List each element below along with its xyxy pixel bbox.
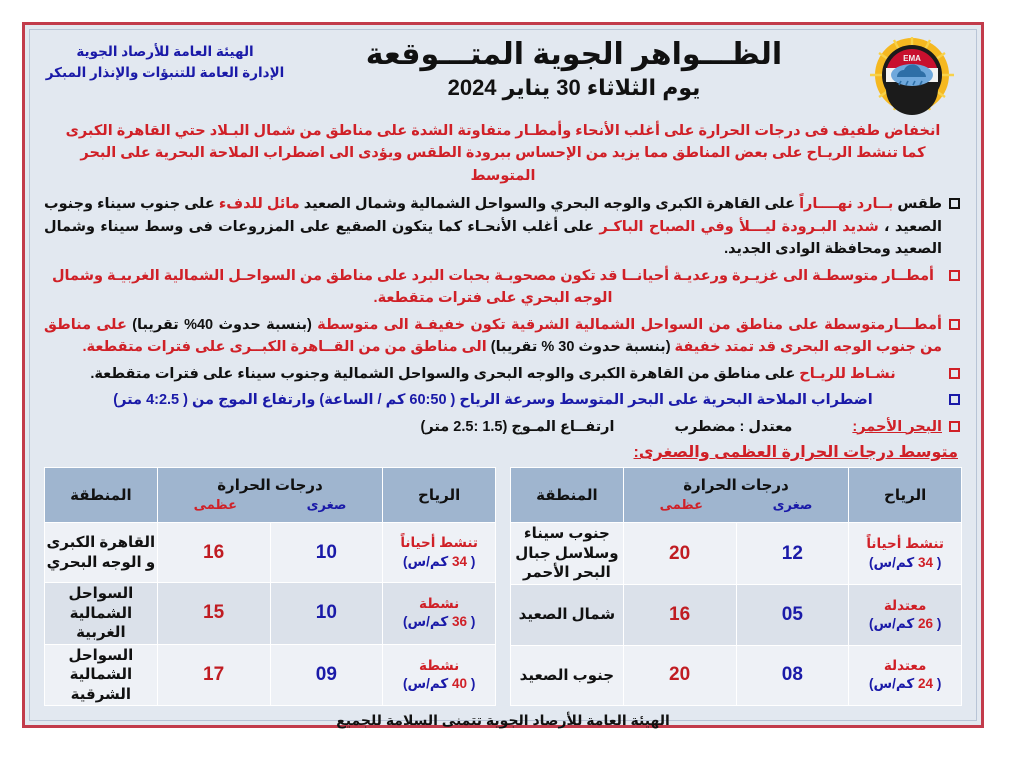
col-header-temp-max: عظمى bbox=[194, 497, 237, 513]
cell-temp-max: 16 bbox=[157, 523, 270, 583]
forecast-poster: الهيئة العامة للأرصاد الجوية الإدارة الع… bbox=[22, 22, 984, 728]
bullet-list: طقس بــارد نهــــاراً على القاهرة الكبرى… bbox=[44, 193, 962, 438]
temperature-table-right: الرياح درجات الحرارة صغرى عظمى المنطقة ت… bbox=[44, 467, 496, 706]
table-row: معتدلة ( 24 كم/س) 08 20 جنوب الصعيد bbox=[511, 645, 962, 706]
cell-temp-min: 10 bbox=[270, 523, 383, 583]
bullet-item-rain-northeast: أمطـــارمتوسطة على مناطق من السواحل الشم… bbox=[44, 314, 962, 359]
cell-region: جنوب الصعيد bbox=[511, 645, 624, 706]
col-header-temp-min: صغرى bbox=[773, 497, 813, 513]
bullet-item-red-sea: البحر الأحمر: معتدل : مضطرب ارتفــاع الم… bbox=[44, 416, 962, 438]
cell-temp-max: 20 bbox=[623, 523, 736, 585]
ema-sun-cloud-logo-icon: EMA bbox=[864, 35, 960, 115]
col-header-temperature: درجات الحرارة صغرى عظمى bbox=[157, 468, 383, 523]
bullet-text-marine-mediterranean: اضطراب الملاحة البحرية على البحر المتوسط… bbox=[44, 389, 942, 411]
col-header-temp-min: صغرى bbox=[307, 497, 347, 513]
col-header-wind: الرياح bbox=[383, 468, 496, 523]
org-authority-name: الهيئة العامة للأرصاد الجوية bbox=[40, 42, 290, 63]
cell-temp-min: 12 bbox=[736, 523, 849, 585]
bullet-item-wind: نشـاط للريـاح على مناطق من القاهرة الكبر… bbox=[44, 363, 962, 385]
bullet-square-icon bbox=[949, 198, 960, 209]
bullet-square-icon bbox=[949, 394, 960, 405]
wind-state: نشطة bbox=[384, 595, 494, 613]
cell-temp-max: 17 bbox=[157, 644, 270, 706]
cell-wind: نشطة ( 40 كم/س) bbox=[383, 644, 496, 706]
bullet-item-marine-mediterranean: اضطراب الملاحة البحرية على البحر المتوسط… bbox=[44, 389, 962, 411]
wind-speed: ( 34 كم/س) bbox=[384, 553, 494, 571]
col-header-temperature-label: درجات الحرارة bbox=[159, 477, 382, 496]
bullet-item-temperature: طقس بــارد نهــــاراً على القاهرة الكبرى… bbox=[44, 193, 962, 260]
cell-region: القاهرة الكبرى و الوجه البحري bbox=[45, 523, 158, 583]
cell-temp-min: 05 bbox=[736, 585, 849, 645]
poster-inner-frame: الهيئة العامة للأرصاد الجوية الإدارة الع… bbox=[29, 29, 977, 721]
cell-temp-max: 16 bbox=[623, 585, 736, 645]
cell-region: شمال الصعيد bbox=[511, 585, 624, 645]
red-sea-state: معتدل : مضطرب bbox=[674, 416, 792, 438]
cell-region: السواحل الشمالية الغربية bbox=[45, 583, 158, 645]
seg: نشـاط للريـاح bbox=[799, 366, 895, 382]
bullet-square-icon bbox=[949, 421, 960, 432]
page-title: الظـــواهر الجوية المتـــوقعة bbox=[290, 38, 858, 71]
cell-temp-max: 20 bbox=[623, 645, 736, 706]
wind-state: معتدلة bbox=[850, 657, 960, 675]
wind-speed: ( 24 كم/س) bbox=[850, 675, 960, 693]
wind-speed: ( 40 كم/س) bbox=[384, 675, 494, 693]
seg: أمطــار متوسطـة الى غزيـرة ورعديـة أحيان… bbox=[52, 268, 934, 306]
wind-state: معتدلة bbox=[850, 597, 960, 615]
bullet-text-temperature: طقس بــارد نهــــاراً على القاهرة الكبرى… bbox=[44, 193, 942, 260]
title-block: الظـــواهر الجوية المتـــوقعة يوم الثلاث… bbox=[290, 34, 858, 100]
bullet-square-icon bbox=[949, 368, 960, 379]
seg: على مناطق من القاهرة الكبرى والوجه البحر… bbox=[90, 366, 799, 382]
cell-temp-max: 15 bbox=[157, 583, 270, 645]
col-header-region: المنطقة bbox=[511, 468, 624, 523]
header: الهيئة العامة للأرصاد الجوية الإدارة الع… bbox=[40, 34, 966, 120]
table-row: تنشط أحياناً ( 34 كم/س) 10 16 القاهرة ال… bbox=[45, 523, 496, 583]
cell-wind: تنشط أحياناً ( 34 كم/س) bbox=[383, 523, 496, 583]
bullet-square-icon bbox=[949, 319, 960, 330]
seg: (بنسبة حدوث 30 % تقريبا) bbox=[491, 339, 671, 355]
seg: شديد البـرودة ليـــلأ وفي الصباح الباكـر bbox=[599, 219, 878, 235]
cell-temp-min: 09 bbox=[270, 644, 383, 706]
seg: الى مناطق من من القــاهرة الكبــرى على ف… bbox=[83, 339, 491, 355]
table-row: نشطة ( 40 كم/س) 09 17 السواحل الشمالية ا… bbox=[45, 644, 496, 706]
org-department-name: الإدارة العامة للتنبؤات والإنذار المبكر bbox=[40, 63, 290, 84]
seg: طقس bbox=[893, 196, 942, 212]
cell-wind: تنشط أحياناً ( 34 كم/س) bbox=[849, 523, 962, 585]
table-header-row: الرياح درجات الحرارة صغرى عظمى المنطقة bbox=[45, 468, 496, 523]
seg: مائل للدفء bbox=[219, 196, 300, 212]
organization-block: الهيئة العامة للأرصاد الجوية الإدارة الع… bbox=[40, 34, 290, 84]
col-header-region: المنطقة bbox=[45, 468, 158, 523]
wind-state: تنشط أحياناً bbox=[850, 535, 960, 553]
red-sea-wave-height: ارتفــاع المـوج (1.5 :2.5 متر) bbox=[421, 416, 615, 438]
table-row: نشطة ( 36 كم/س) 10 15 السواحل الشمالية ا… bbox=[45, 583, 496, 645]
table-header-row: الرياح درجات الحرارة صغرى عظمى المنطقة bbox=[511, 468, 962, 523]
cell-region: جنوب سيناء وسلاسل جبال البحر الأحمر bbox=[511, 523, 624, 585]
wind-speed: ( 34 كم/س) bbox=[850, 554, 960, 572]
cell-temp-min: 08 bbox=[736, 645, 849, 706]
footer-note: الهيئة العامة للأرصاد الجوية تتمنى السلا… bbox=[40, 712, 966, 729]
wind-state: تنشط أحياناً bbox=[384, 534, 494, 552]
ema-logo: EMA bbox=[858, 34, 966, 116]
temperature-tables: الرياح درجات الحرارة صغرى عظمى المنطقة ت… bbox=[44, 467, 962, 706]
seg: اضطراب الملاحة البحرية على البحر المتوسط… bbox=[113, 392, 872, 408]
col-header-temperature-label: درجات الحرارة bbox=[625, 477, 848, 496]
temperature-table-left: الرياح درجات الحرارة صغرى عظمى المنطقة ت… bbox=[510, 467, 962, 706]
seg: على القاهرة الكبرى والوجه البحري والسواح… bbox=[300, 196, 799, 212]
table-caption: متوسط درجات الحرارة العظمى والصغرى: bbox=[40, 442, 958, 462]
cell-wind: معتدلة ( 26 كم/س) bbox=[849, 585, 962, 645]
col-header-wind: الرياح bbox=[849, 468, 962, 523]
bullet-square-icon bbox=[949, 270, 960, 281]
wind-speed: ( 26 كم/س) bbox=[850, 615, 960, 633]
summary-line-2: كما تنشط الريـاح على بعض المناطق مما يزي… bbox=[46, 142, 960, 187]
wind-state: نشطة bbox=[384, 657, 494, 675]
red-sea-label: البحر الأحمر: bbox=[852, 416, 942, 438]
bullet-text-rain-northwest: أمطــار متوسطـة الى غزيـرة ورعديـة أحيان… bbox=[44, 265, 942, 310]
summary-paragraph: انخفاض طفيف فى درجات الحرارة على أغلب ال… bbox=[46, 120, 960, 187]
seg: (بنسبة حدوث 40% تقريبا) bbox=[132, 317, 312, 333]
cell-region: السواحل الشمالية الشرقية bbox=[45, 644, 158, 706]
col-header-temp-max: عظمى bbox=[660, 497, 703, 513]
svg-text:EMA: EMA bbox=[903, 54, 921, 63]
cell-wind: نشطة ( 36 كم/س) bbox=[383, 583, 496, 645]
cell-wind: معتدلة ( 24 كم/س) bbox=[849, 645, 962, 706]
forecast-date: يوم الثلاثاء 30 يناير 2024 bbox=[290, 76, 858, 100]
wind-speed: ( 36 كم/س) bbox=[384, 613, 494, 631]
table-row: تنشط أحياناً ( 34 كم/س) 12 20 جنوب سيناء… bbox=[511, 523, 962, 585]
bullet-text-red-sea: البحر الأحمر: معتدل : مضطرب ارتفــاع الم… bbox=[44, 416, 942, 438]
seg: أمطـــارمتوسطة على مناطق من السواحل الشم… bbox=[312, 317, 942, 333]
bullet-text-rain-northeast: أمطـــارمتوسطة على مناطق من السواحل الشم… bbox=[44, 314, 942, 359]
table-row: معتدلة ( 26 كم/س) 05 16 شمال الصعيد bbox=[511, 585, 962, 645]
col-header-temperature: درجات الحرارة صغرى عظمى bbox=[623, 468, 849, 523]
seg: بــارد نهــــاراً bbox=[799, 196, 893, 212]
bullet-item-rain-northwest: أمطــار متوسطـة الى غزيـرة ورعديـة أحيان… bbox=[44, 265, 962, 310]
bullet-text-wind: نشـاط للريـاح على مناطق من القاهرة الكبر… bbox=[44, 363, 942, 385]
summary-line-1: انخفاض طفيف فى درجات الحرارة على أغلب ال… bbox=[46, 120, 960, 142]
cell-temp-min: 10 bbox=[270, 583, 383, 645]
